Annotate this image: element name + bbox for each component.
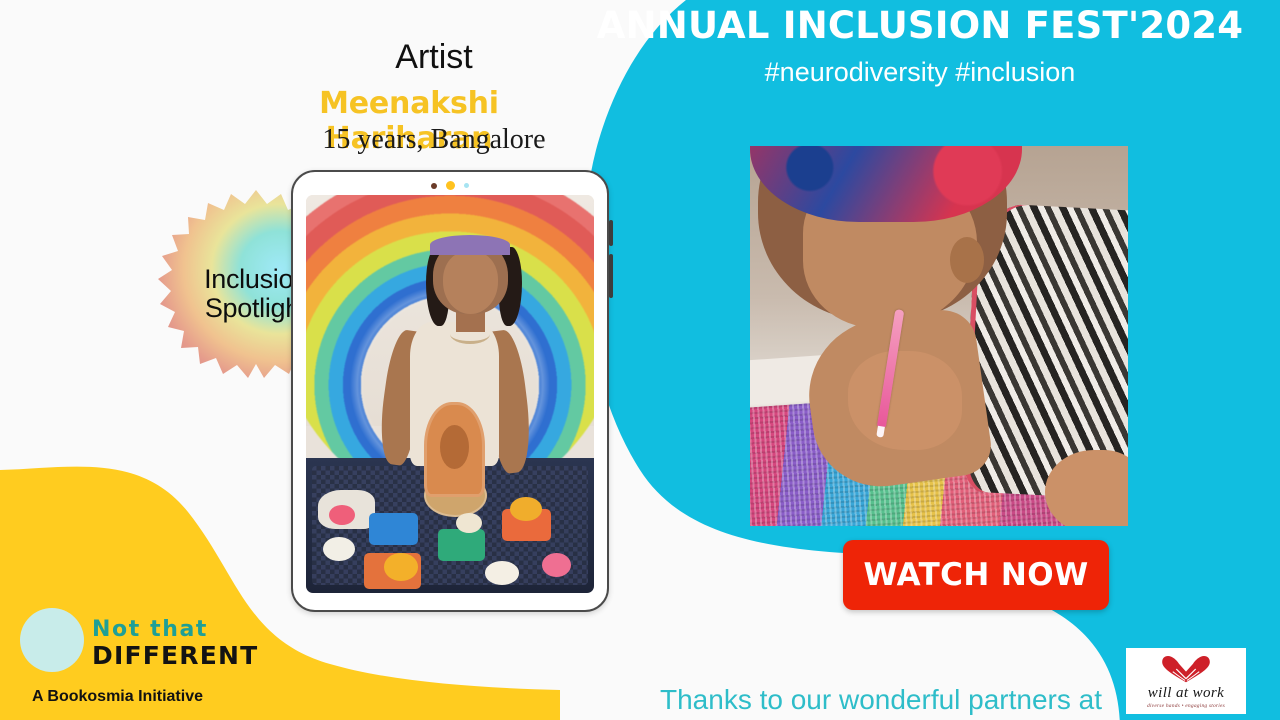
artist-label: Artist xyxy=(234,38,634,77)
heart-hands-icon xyxy=(1155,654,1217,684)
will-at-work-logo: will at work diverse hands • engaging st… xyxy=(1126,648,1246,714)
diamond-art-photo xyxy=(750,146,1128,526)
page-title: ANNUAL INCLUSION FEST'2024 xyxy=(575,4,1265,47)
not-that-different-logo xyxy=(20,608,84,672)
tablet-volume-button[interactable] xyxy=(609,220,613,246)
watch-now-button[interactable]: WATCH NOW xyxy=(843,540,1109,610)
brand-word-2: DIFFERENT xyxy=(92,641,258,670)
partners-text: Thanks to our wonderful partners at xyxy=(660,684,1102,716)
tablet-power-button[interactable] xyxy=(609,254,613,298)
brand-word-1: Not that xyxy=(92,617,208,642)
cyan-dot-icon xyxy=(464,183,469,188)
artist-meta: 15 years, Bangalore xyxy=(234,124,634,156)
tablet-mockup xyxy=(291,170,609,612)
tablet-indicator-dots xyxy=(293,181,607,190)
tablet-screen[interactable] xyxy=(306,195,594,593)
brown-dot-icon xyxy=(431,183,437,189)
partner-logo-tagline: diverse hands • engaging stories xyxy=(1147,703,1225,709)
partner-logo-name: will at work xyxy=(1148,685,1224,702)
poster-canvas: ANNUAL INCLUSION FEST'2024 #neurodiversi… xyxy=(0,0,1280,720)
brand-subtitle: A Bookosmia Initiative xyxy=(32,688,203,706)
hashtags: #neurodiversity #inclusion xyxy=(575,57,1265,88)
artist-photo xyxy=(306,195,594,593)
yellow-dot-icon xyxy=(446,181,455,190)
